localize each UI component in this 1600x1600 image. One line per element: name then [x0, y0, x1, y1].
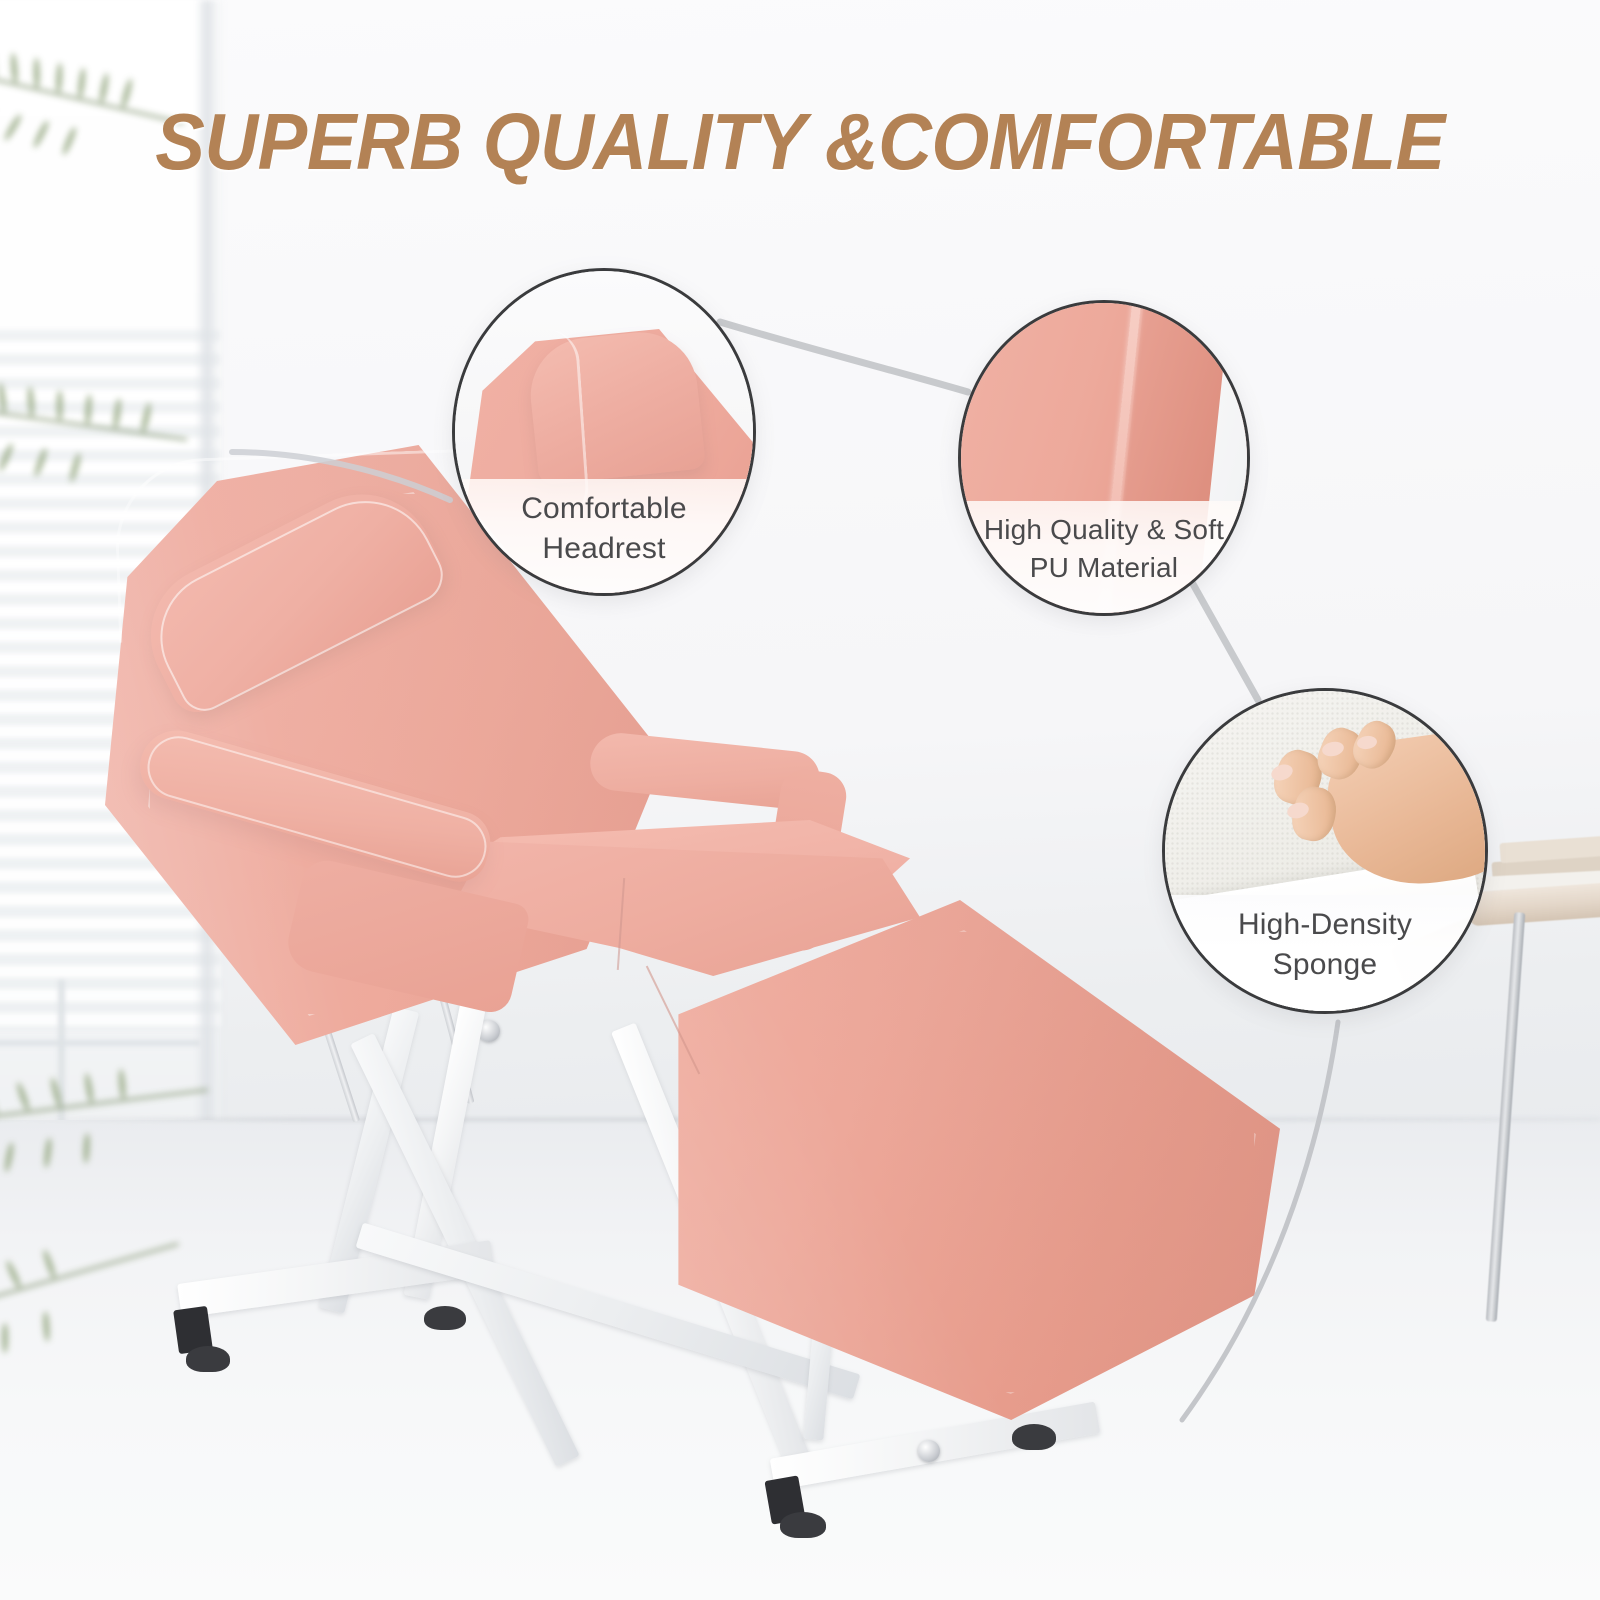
- rubber-foot: [186, 1346, 230, 1372]
- callout-headrest-label: Comfortable Headrest: [455, 479, 753, 593]
- callout-pu-line2: PU Material: [967, 549, 1241, 587]
- callout-comfortable-headrest[interactable]: Comfortable Headrest: [452, 268, 756, 596]
- callout-headrest-line2: Headrest: [461, 529, 747, 569]
- callout-pu-material[interactable]: High Quality & Soft PU Material: [958, 300, 1250, 616]
- callout-sponge-line1: High-Density: [1171, 905, 1479, 945]
- callout-pu-line1: High Quality & Soft: [967, 511, 1241, 549]
- product-marketing-image: Comfortable Headrest High Quality & Soft…: [0, 0, 1600, 1600]
- callout-pu-label: High Quality & Soft PU Material: [961, 501, 1247, 613]
- callout-high-density-sponge[interactable]: High-Density Sponge: [1162, 688, 1488, 1014]
- rubber-foot: [1012, 1424, 1056, 1450]
- callout-sponge-line2: Sponge: [1171, 945, 1479, 985]
- frame-bolt: [918, 1440, 940, 1462]
- page-title: SUPERB QUALITY &COMFORTABLE: [56, 96, 1544, 188]
- rubber-foot: [424, 1306, 466, 1330]
- callout-headrest-line1: Comfortable: [461, 489, 747, 529]
- callout-sponge-label: High-Density Sponge: [1165, 895, 1485, 1011]
- rubber-foot: [780, 1512, 826, 1538]
